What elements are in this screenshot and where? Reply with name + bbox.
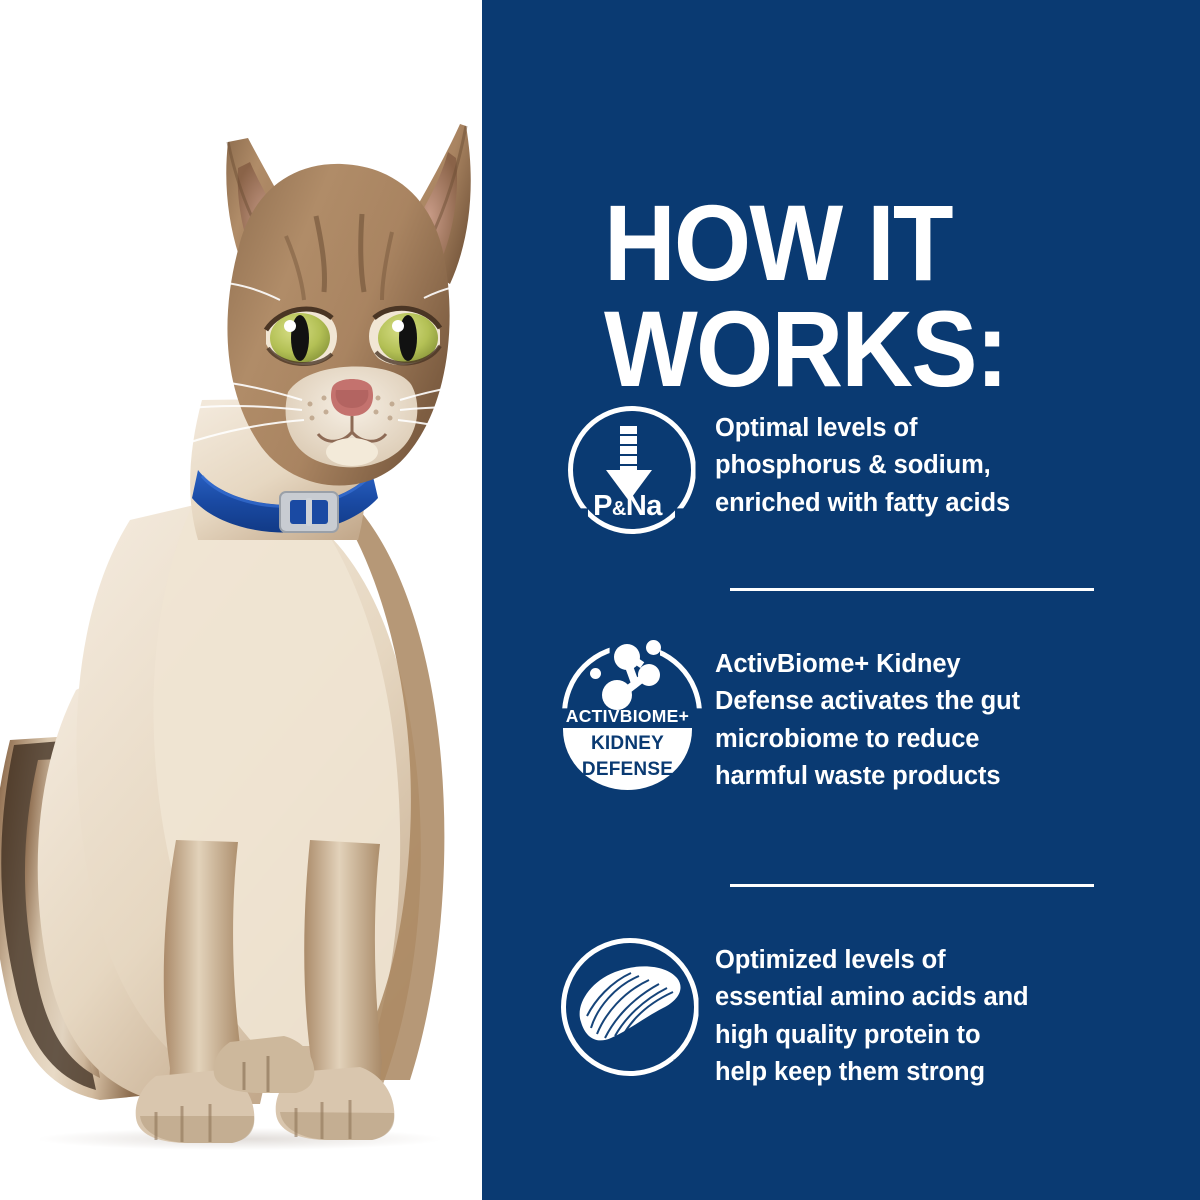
molecule-cluster-shape — [562, 640, 692, 714]
feature-icon-wrap-1: P&Na — [540, 404, 715, 532]
pna-p: P — [593, 490, 612, 522]
headline-line-1: HOW IT — [604, 182, 952, 303]
kidney-defense-line-2: DEFENSE — [563, 754, 692, 780]
advertisement-canvas: HOW IT WORKS: P&Na Optimal levels of pho… — [0, 0, 1200, 1200]
feature-1-line-3: enriched with fatty acids — [715, 485, 1135, 522]
cat-illustration — [0, 0, 540, 1200]
kidney-defense-line-1: KIDNEY — [563, 728, 692, 754]
page-title: HOW IT WORKS: — [604, 190, 1082, 402]
activbiome-kidney-defense-icon: ACTIVBIOME+ KIDNEY DEFENSE — [540, 640, 715, 790]
feature-icon-wrap-3 — [540, 936, 715, 1068]
feature-2-line-2: Defense activates the gut — [715, 683, 1135, 720]
feature-3-line-1: Optimized levels of — [715, 942, 1135, 979]
feature-2-line-3: microbiome to reduce — [715, 721, 1135, 758]
feature-3-line-2: essential amino acids and — [715, 979, 1135, 1016]
feature-icon-wrap-2: ACTIVBIOME+ KIDNEY DEFENSE — [540, 640, 715, 790]
feature-2-line-4: harmful waste products — [715, 758, 1135, 795]
feature-3-line-4: help keep them strong — [715, 1054, 1135, 1091]
feature-3-line-3: high quality protein to — [715, 1017, 1135, 1054]
feature-item-activbiome: ACTIVBIOME+ KIDNEY DEFENSE ActivBiome+ K… — [540, 640, 1135, 796]
phosphorus-sodium-down-arrow-icon: P&Na — [562, 404, 694, 532]
cat-photo-area — [0, 0, 482, 1200]
feature-text-2: ActivBiome+ Kidney Defense activates the… — [715, 640, 1135, 796]
headline-line-2: WORKS: — [604, 296, 1082, 402]
pna-label: P&Na — [562, 490, 694, 523]
feature-text-1: Optimal levels of phosphorus & sodium, e… — [715, 404, 1135, 522]
pna-na: Na — [626, 490, 662, 522]
feature-1-line-2: phosphorus & sodium, — [715, 447, 1135, 484]
feature-divider-1 — [730, 588, 1094, 591]
feature-item-protein: Optimized levels of essential amino acid… — [540, 936, 1135, 1092]
feature-item-phosphorus-sodium: P&Na Optimal levels of phosphorus & sodi… — [540, 404, 1135, 532]
activbiome-wordmark: ACTIVBIOME+ — [540, 706, 715, 727]
muscle-protein-icon — [553, 936, 703, 1068]
pna-ampersand: & — [612, 498, 626, 520]
feature-1-line-1: Optimal levels of — [715, 410, 1135, 447]
kidney-defense-badge: KIDNEY DEFENSE — [563, 728, 692, 790]
feature-divider-2 — [730, 884, 1094, 887]
feature-2-line-1: ActivBiome+ Kidney — [715, 646, 1135, 683]
arrow-stem-shape — [620, 426, 637, 472]
feature-text-3: Optimized levels of essential amino acid… — [715, 936, 1135, 1092]
muscle-fiber-shape — [567, 956, 687, 1052]
